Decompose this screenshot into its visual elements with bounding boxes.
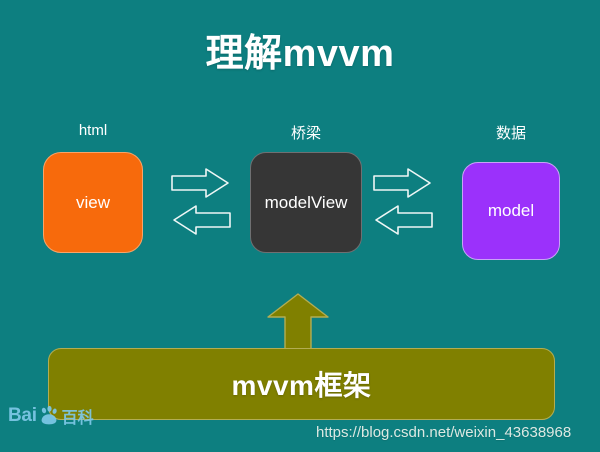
arrow-right-icon [374, 169, 430, 197]
framework-bar: mvvm框架 [48, 348, 555, 420]
connector-view-modelview [170, 166, 232, 238]
node-model-label: model [488, 201, 534, 221]
csdn-url-watermark: https://blog.csdn.net/weixin_43638968 [316, 424, 571, 441]
arrow-up-icon [268, 294, 328, 349]
paw-icon [38, 405, 60, 427]
caption-modelview: 桥梁 [250, 122, 362, 143]
page-title: 理解mvvm [0, 22, 600, 77]
node-modelview: modelView [250, 152, 362, 253]
arrow-right-icon [172, 169, 228, 197]
mvvm-diagram-slide: 理解mvvm html 桥梁 数据 view modelView model [0, 0, 600, 452]
caption-view: html [43, 122, 143, 139]
framework-label: mvvm框架 [232, 364, 372, 404]
caption-model: 数据 [462, 122, 560, 143]
baidu-chinese-text: 百科 [62, 404, 94, 428]
node-view-label: view [76, 193, 110, 213]
node-model: model [462, 162, 560, 260]
node-view: view [43, 152, 143, 253]
baidu-baike-watermark: Bai 百科 [8, 404, 94, 428]
arrow-left-icon [376, 206, 432, 234]
baidu-latin-text: Bai [8, 405, 37, 427]
node-modelview-label: modelView [265, 193, 348, 213]
connector-modelview-model [372, 166, 434, 238]
arrow-left-icon [174, 206, 230, 234]
connector-framework-up [266, 292, 330, 350]
